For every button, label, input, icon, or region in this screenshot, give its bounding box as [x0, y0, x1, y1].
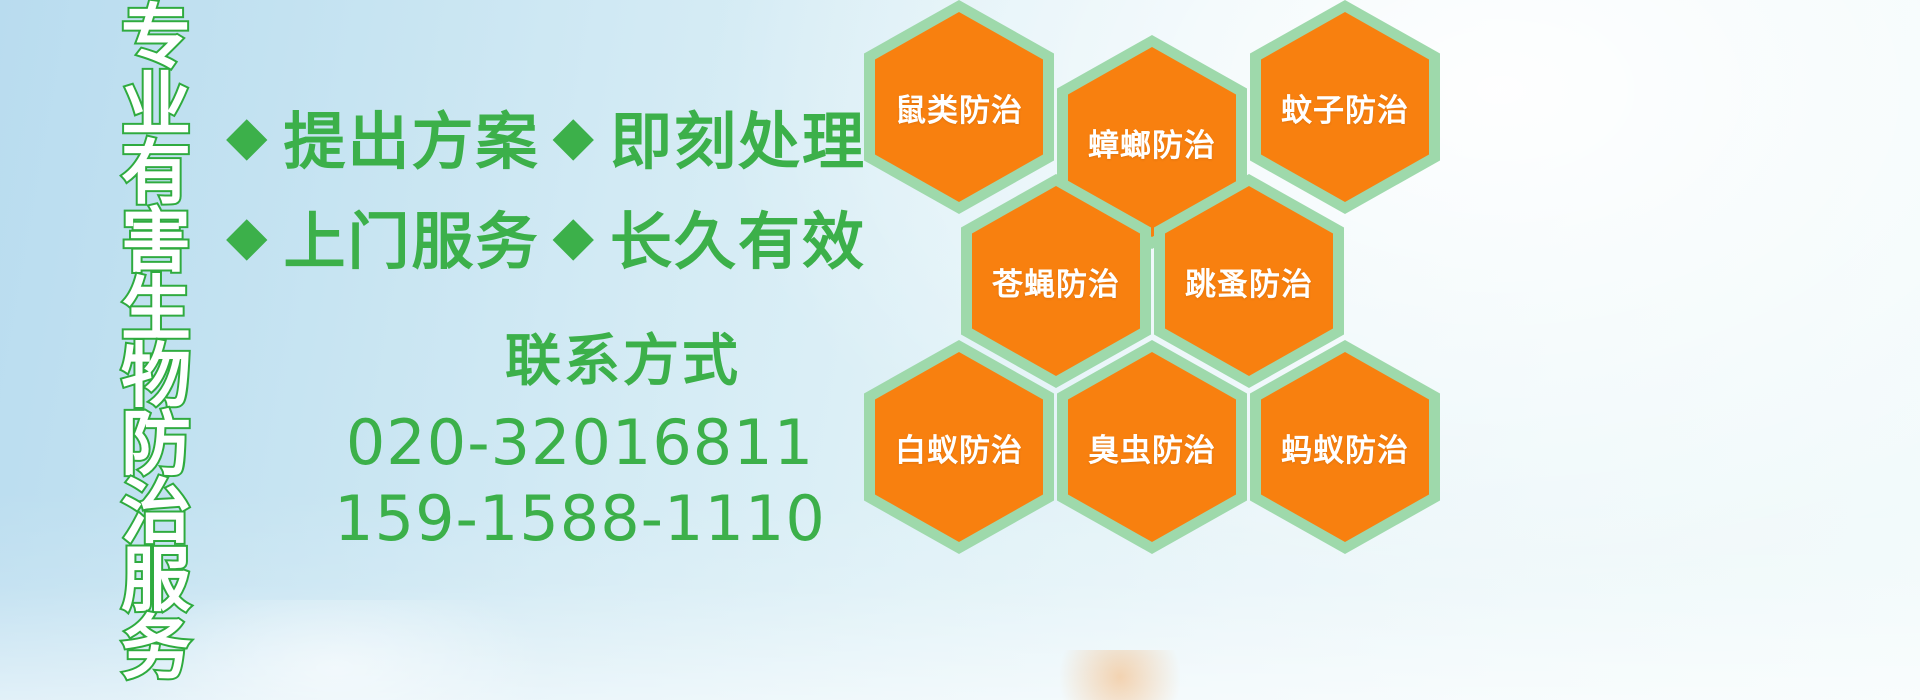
- vertical-headline-char: 服: [121, 547, 191, 615]
- hex-label: 鼠类防治: [895, 85, 1023, 130]
- hexagon-fill: 臭虫防治: [1068, 352, 1236, 542]
- feature-item-long-lasting: ◆ 长久有效: [552, 191, 866, 281]
- feature-list: ◆ 提出方案 ◆ 即刻处理 ◆ 上门服务 ◆ 长久有效: [226, 86, 866, 286]
- vertical-headline: 专 业 有 害 生 物 防 治 服 务: [104, 4, 208, 564]
- vertical-headline-char: 防: [121, 411, 191, 479]
- feature-item-immediate-handling: ◆ 即刻处理: [552, 91, 866, 181]
- hexagon-fill: 蚂蚁防治: [1261, 352, 1429, 542]
- hex-label: 蚊子防治: [1281, 85, 1409, 130]
- vertical-headline-char: 物: [121, 343, 191, 411]
- hex-cell-ant-control[interactable]: 蚂蚁防治: [1250, 340, 1440, 554]
- hex-cell-termite-control[interactable]: 白蚁防治: [864, 340, 1054, 554]
- feature-item-propose-plan: ◆ 提出方案: [226, 91, 540, 181]
- feature-label: 上门服务: [284, 191, 540, 281]
- hex-label: 白蚁防治: [895, 425, 1023, 470]
- hexagon-border: 蚂蚁防治: [1250, 340, 1440, 554]
- vertical-headline-char: 专: [121, 4, 191, 72]
- decorative-glow-orange: [1060, 650, 1180, 700]
- vertical-headline-char: 治: [121, 479, 191, 547]
- phone-number-landline[interactable]: 020-32016811: [300, 405, 860, 481]
- hex-label: 蟑螂防治: [1088, 120, 1216, 165]
- hex-cell-bedbug-control[interactable]: 臭虫防治: [1057, 340, 1247, 554]
- vertical-headline-char: 务: [121, 615, 191, 683]
- hex-label: 苍蝇防治: [992, 259, 1120, 304]
- diamond-bullet-icon: ◆: [552, 109, 594, 163]
- contact-block: 联系方式 020-32016811 159-1588-1110: [300, 316, 860, 556]
- service-honeycomb: 鼠类防治 蟑螂防治 蚊子防治 苍蝇防治: [864, 0, 1464, 552]
- vertical-headline-char: 生: [121, 276, 191, 344]
- contact-title: 联系方式: [300, 316, 860, 397]
- phone-number-mobile[interactable]: 159-1588-1110: [300, 481, 860, 557]
- vertical-headline-char: 业: [121, 72, 191, 140]
- hexagon-border: 臭虫防治: [1057, 340, 1247, 554]
- hex-label: 蚂蚁防治: [1281, 425, 1409, 470]
- hex-label: 臭虫防治: [1088, 425, 1216, 470]
- hexagon-border: 白蚁防治: [864, 340, 1054, 554]
- vertical-headline-char: 有: [121, 140, 191, 208]
- diamond-bullet-icon: ◆: [226, 209, 268, 263]
- hex-label: 跳蚤防治: [1185, 259, 1313, 304]
- feature-label: 提出方案: [284, 91, 540, 181]
- diamond-bullet-icon: ◆: [552, 209, 594, 263]
- hexagon-fill: 白蚁防治: [875, 352, 1043, 542]
- vertical-headline-char: 害: [121, 208, 191, 276]
- feature-label: 即刻处理: [610, 91, 866, 181]
- feature-row: ◆ 上门服务 ◆ 长久有效: [226, 186, 866, 286]
- feature-label: 长久有效: [610, 191, 866, 281]
- diamond-bullet-icon: ◆: [226, 109, 268, 163]
- feature-row: ◆ 提出方案 ◆ 即刻处理: [226, 86, 866, 186]
- banner-root: 专 业 有 害 生 物 防 治 服 务 ◆ 提出方案 ◆ 即刻处理 ◆ 上门服务: [0, 0, 1920, 700]
- feature-item-onsite-service: ◆ 上门服务: [226, 191, 540, 281]
